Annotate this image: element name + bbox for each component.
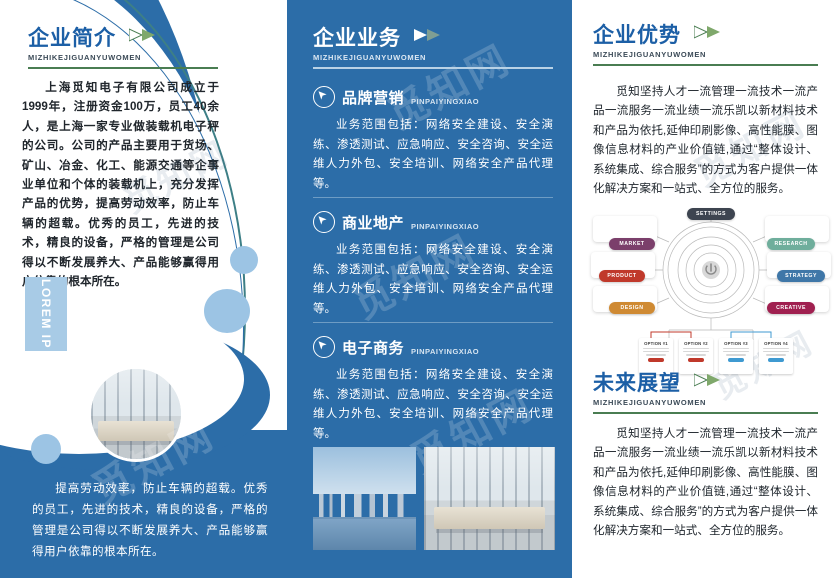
strategy-infographic: SETTINGS MARKET PRODUCT DESIGN RESEARCH … [591,208,831,360]
team-photo-image [89,271,204,348]
business-item: 品牌营销 PINPAIYINGXIAO 业务范围包括：网络安全建设、安全演练、渗… [313,86,553,194]
infographic-option-card: OPTION #4 [759,338,793,374]
business-item-pinyin: PINPAIYINGXIAO [411,347,479,358]
future-heading-rule [593,412,818,414]
circle-office-photo [88,366,184,462]
future-heading-pinyin: MIZHIKEJIGUANYUWOMEN [593,398,818,407]
advantage-heading-rule [593,64,818,66]
business-item-desc: 业务范围包括：网络安全建设、安全演练、渗透测试、应急响应、安全咨询、安全运维人力… [313,116,553,194]
business-item-title: 品牌营销 [342,87,404,108]
infographic-node-product: PRODUCT [599,270,645,282]
advantage-heading: 企业优势 MIZHIKEJIGUANYUWOMEN [593,25,818,66]
business-item-title: 电子商务 [342,337,404,358]
double-arrow-icon [129,28,161,47]
business-heading-pinyin: MIZHIKEJIGUANYUWOMEN [313,53,553,62]
infographic-node-strategy: STRATEGY [777,270,825,282]
infographic-option-card: OPTION #1 [639,338,673,374]
future-heading-title: 未来展望 [593,373,681,394]
business-heading-title: 企业业务 [313,28,401,49]
option-label: OPTION #3 [719,341,753,346]
left-bottom-text: 提高劳动效率，防止车辆的超载。优秀的员工，先进的技术，精良的设备，严格的管理是公… [32,478,268,562]
panel-seam [569,0,572,578]
intro-body-text: 上海觅知电子有限公司成立于1999年，注册资金100万，员工40余人，是上海一家… [22,78,219,291]
decorative-dot-bottom [31,434,61,464]
lorem-placeholder-box: LOREM IP [25,277,67,351]
cursor-pointer-icon [313,211,335,233]
infographic-node-market: MARKET [609,238,655,250]
business-item: 电子商务 PINPAIYINGXIAO 业务范围包括：网络安全建设、安全演练、渗… [313,336,553,444]
future-heading: 未来展望 MIZHIKEJIGUANYUWOMEN [593,373,818,414]
infographic-option-card: OPTION #2 [679,338,713,374]
infographic-node-design: DESIGN [609,302,655,314]
future-body-text: 觅知坚持人才一流管理一流技术一流产品一流服务一流业绩一流乐凯以新材料技术和产品为… [593,424,818,540]
business-item-header: 商业地产 PINPAIYINGXIAO [313,211,553,233]
advantage-body-text: 觅知坚持人才一流管理一流技术一流产品一流服务一流业绩一流乐凯以新材料技术和产品为… [593,82,818,198]
office-interior-photo [424,447,555,550]
business-item-pinyin: PINPAIYINGXIAO [411,222,479,233]
business-item-desc: 业务范围包括：网络安全建设、安全演练、渗透测试、应急响应、安全咨询、安全运维人力… [313,366,553,444]
left-panel: 企业简介 MIZHIKEJIGUANYUWOMEN 上海觅知电子有限公司成立于1… [0,0,287,578]
business-heading-rule [313,67,553,69]
business-separator [313,197,553,198]
cursor-pointer-icon [313,336,335,358]
brochure-page: 企业简介 MIZHIKEJIGUANYUWOMEN 上海觅知电子有限公司成立于1… [0,0,840,578]
business-item-pinyin: PINPAIYINGXIAO [411,97,479,108]
business-item-header: 电子商务 PINPAIYINGXIAO [313,336,553,358]
double-arrow-icon [694,25,726,44]
intro-heading-rule [28,67,218,69]
intro-heading: 企业简介 MIZHIKEJIGUANYUWOMEN [28,28,218,69]
business-item: 商业地产 PINPAIYINGXIAO 业务范围包括：网络安全建设、安全演练、渗… [313,211,553,319]
option-label: OPTION #1 [639,341,673,346]
intro-heading-pinyin: MIZHIKEJIGUANYUWOMEN [28,53,218,62]
office-interior-photo-image [424,447,555,550]
city-skyline-photo-image [313,447,416,550]
decorative-dot-small [230,246,258,274]
infographic-center-label: SETTINGS [687,208,735,220]
business-item-title: 商业地产 [342,212,404,233]
business-item-desc: 业务范围包括：网络安全建设、安全演练、渗透测试、应急响应、安全咨询、安全运维人力… [313,241,553,319]
advantage-heading-title: 企业优势 [593,25,681,46]
business-item-header: 品牌营销 PINPAIYINGXIAO [313,86,553,108]
double-arrow-icon [414,28,446,47]
advantage-heading-pinyin: MIZHIKEJIGUANYUWOMEN [593,50,818,59]
city-skyline-photo [313,447,416,550]
option-label: OPTION #4 [759,341,793,346]
lorem-placeholder-label: LOREM IP [39,279,53,349]
infographic-option-card: OPTION #3 [719,338,753,374]
circle-office-photo-image [91,369,181,459]
cursor-pointer-icon [313,86,335,108]
business-heading: 企业业务 MIZHIKEJIGUANYUWOMEN [313,28,553,69]
infographic-node-creative: CREATIVE [767,302,815,314]
intro-heading-title: 企业简介 [28,28,116,49]
business-separator [313,322,553,323]
option-label: OPTION #2 [679,341,713,346]
double-arrow-icon [694,373,726,392]
decorative-dot-large [204,289,250,333]
team-photo [89,271,204,348]
infographic-node-research: RESEARCH [767,238,815,250]
